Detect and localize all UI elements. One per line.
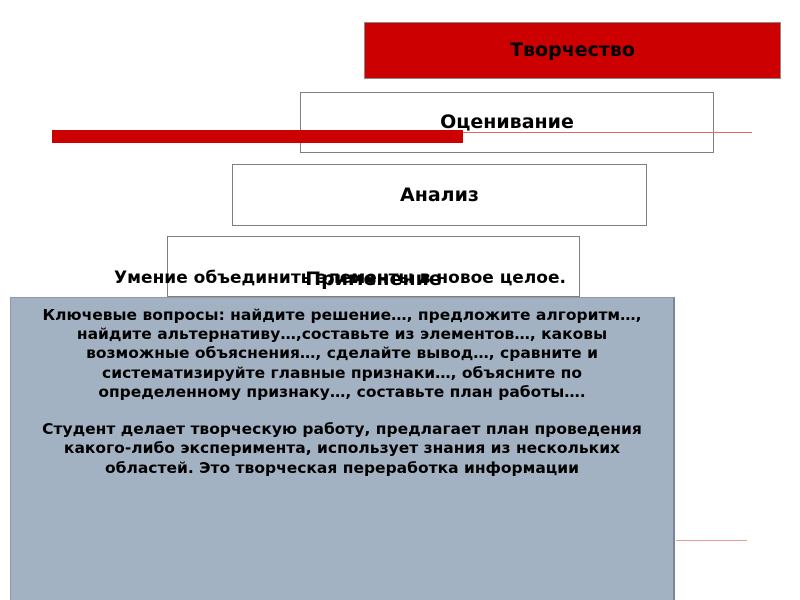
details-line: найдите альтернативу…,составьте из элеме… (23, 325, 661, 344)
details-line: определенному признаку…, составьте план … (23, 383, 661, 402)
red-accent-line-lower (676, 540, 747, 541)
details-line: Студент делает творческую работу, предла… (23, 420, 661, 439)
pyramid-level-analysis[interactable]: Анализ (232, 164, 647, 226)
pyramid-level-analysis-label: Анализ (400, 185, 479, 206)
red-accent-line-upper (463, 132, 752, 133)
slide-canvas: Творчество Оценивание Анализ Применение … (0, 0, 800, 600)
details-line: областей. Это творческая переработка инф… (23, 459, 661, 478)
details-line: возможные объяснения…, сделайте вывод…, … (23, 344, 661, 363)
pyramid-level-evaluation[interactable]: Оценивание (300, 92, 714, 153)
details-panel: Ключевые вопросы: найдите решение…, пред… (10, 297, 675, 600)
details-line: Ключевые вопросы: найдите решение…, пред… (23, 306, 661, 325)
pyramid-level-creativity-label: Творчество (510, 40, 635, 61)
red-accent-bar (52, 130, 463, 143)
details-line: какого-либо эксперимента, использует зна… (23, 439, 661, 458)
definition-caption: Умение объединить элементы в новое целое… (0, 268, 680, 288)
pyramid-level-creativity[interactable]: Творчество (364, 22, 781, 79)
details-line: систематизируйте главные признаки…, объя… (23, 364, 661, 383)
